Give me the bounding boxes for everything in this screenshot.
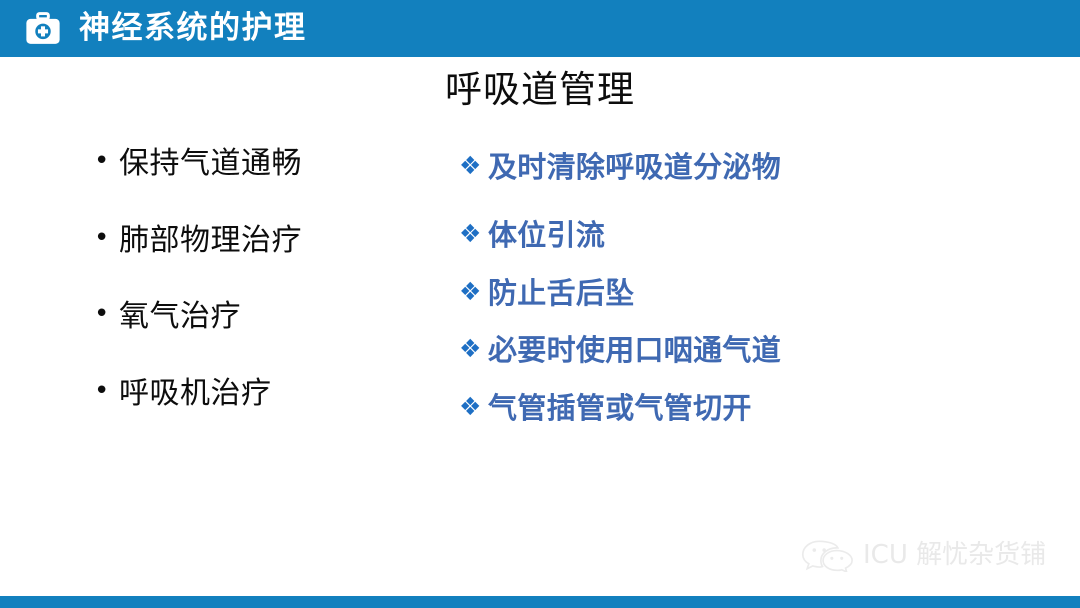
bullet-diamond-icon: ❖ <box>459 152 488 181</box>
list-item: ❖ 必要时使用口咽通气道 <box>459 335 879 365</box>
wechat-logo-icon <box>800 538 856 572</box>
list-item-label: 呼吸机治疗 <box>119 378 434 410</box>
list-item: ❖ 气管插管或气管切开 <box>459 393 879 423</box>
list-item: ❖ 及时清除呼吸道分泌物 <box>459 152 879 182</box>
header-title: 神经系统的护理 <box>79 13 307 44</box>
list-item-label: 气管插管或气管切开 <box>488 393 879 423</box>
bullet-diamond-icon: ❖ <box>459 335 488 364</box>
right-bullet-list: ❖ 及时清除呼吸道分泌物 ❖ 体位引流 ❖ 防止舌后坠 ❖ 必要时使用口咽通气道… <box>459 152 879 423</box>
watermark: ICU 解忧杂货铺 <box>800 538 1046 572</box>
footer-bar <box>0 596 1080 608</box>
bullet-diamond-icon: ❖ <box>459 393 488 422</box>
list-item-label: 氧气治疗 <box>119 301 434 333</box>
bullet-diamond-icon: ❖ <box>459 278 488 307</box>
page-title: 呼吸道管理 <box>0 70 1080 111</box>
list-item-label: 体位引流 <box>488 220 879 250</box>
first-aid-kit-icon <box>24 10 62 48</box>
bullet-dot-icon: • <box>94 378 119 405</box>
list-item-label: 必要时使用口咽通气道 <box>488 335 879 365</box>
slide-canvas: 神经系统的护理 呼吸道管理 • 保持气道通畅 • 肺部物理治疗 • 氧气治疗 •… <box>0 0 1080 608</box>
bullet-diamond-icon: ❖ <box>459 220 488 249</box>
list-item-label: 防止舌后坠 <box>488 278 879 308</box>
header-bar: 神经系统的护理 <box>0 0 1080 57</box>
list-item: • 呼吸机治疗 <box>94 378 434 410</box>
bullet-dot-icon: • <box>94 301 119 328</box>
bullet-dot-icon: • <box>94 225 119 252</box>
bullet-dot-icon: • <box>94 148 119 175</box>
watermark-text: ICU 解忧杂货铺 <box>863 542 1046 568</box>
list-item: ❖ 防止舌后坠 <box>459 278 879 308</box>
left-bullet-list: • 保持气道通畅 • 肺部物理治疗 • 氧气治疗 • 呼吸机治疗 <box>94 148 434 409</box>
list-item-label: 保持气道通畅 <box>119 148 434 180</box>
list-item: • 肺部物理治疗 <box>94 225 434 257</box>
list-item: ❖ 体位引流 <box>459 220 879 250</box>
list-item: • 氧气治疗 <box>94 301 434 333</box>
list-item-label: 及时清除呼吸道分泌物 <box>488 152 879 182</box>
list-item: • 保持气道通畅 <box>94 148 434 180</box>
list-item-label: 肺部物理治疗 <box>119 225 434 257</box>
